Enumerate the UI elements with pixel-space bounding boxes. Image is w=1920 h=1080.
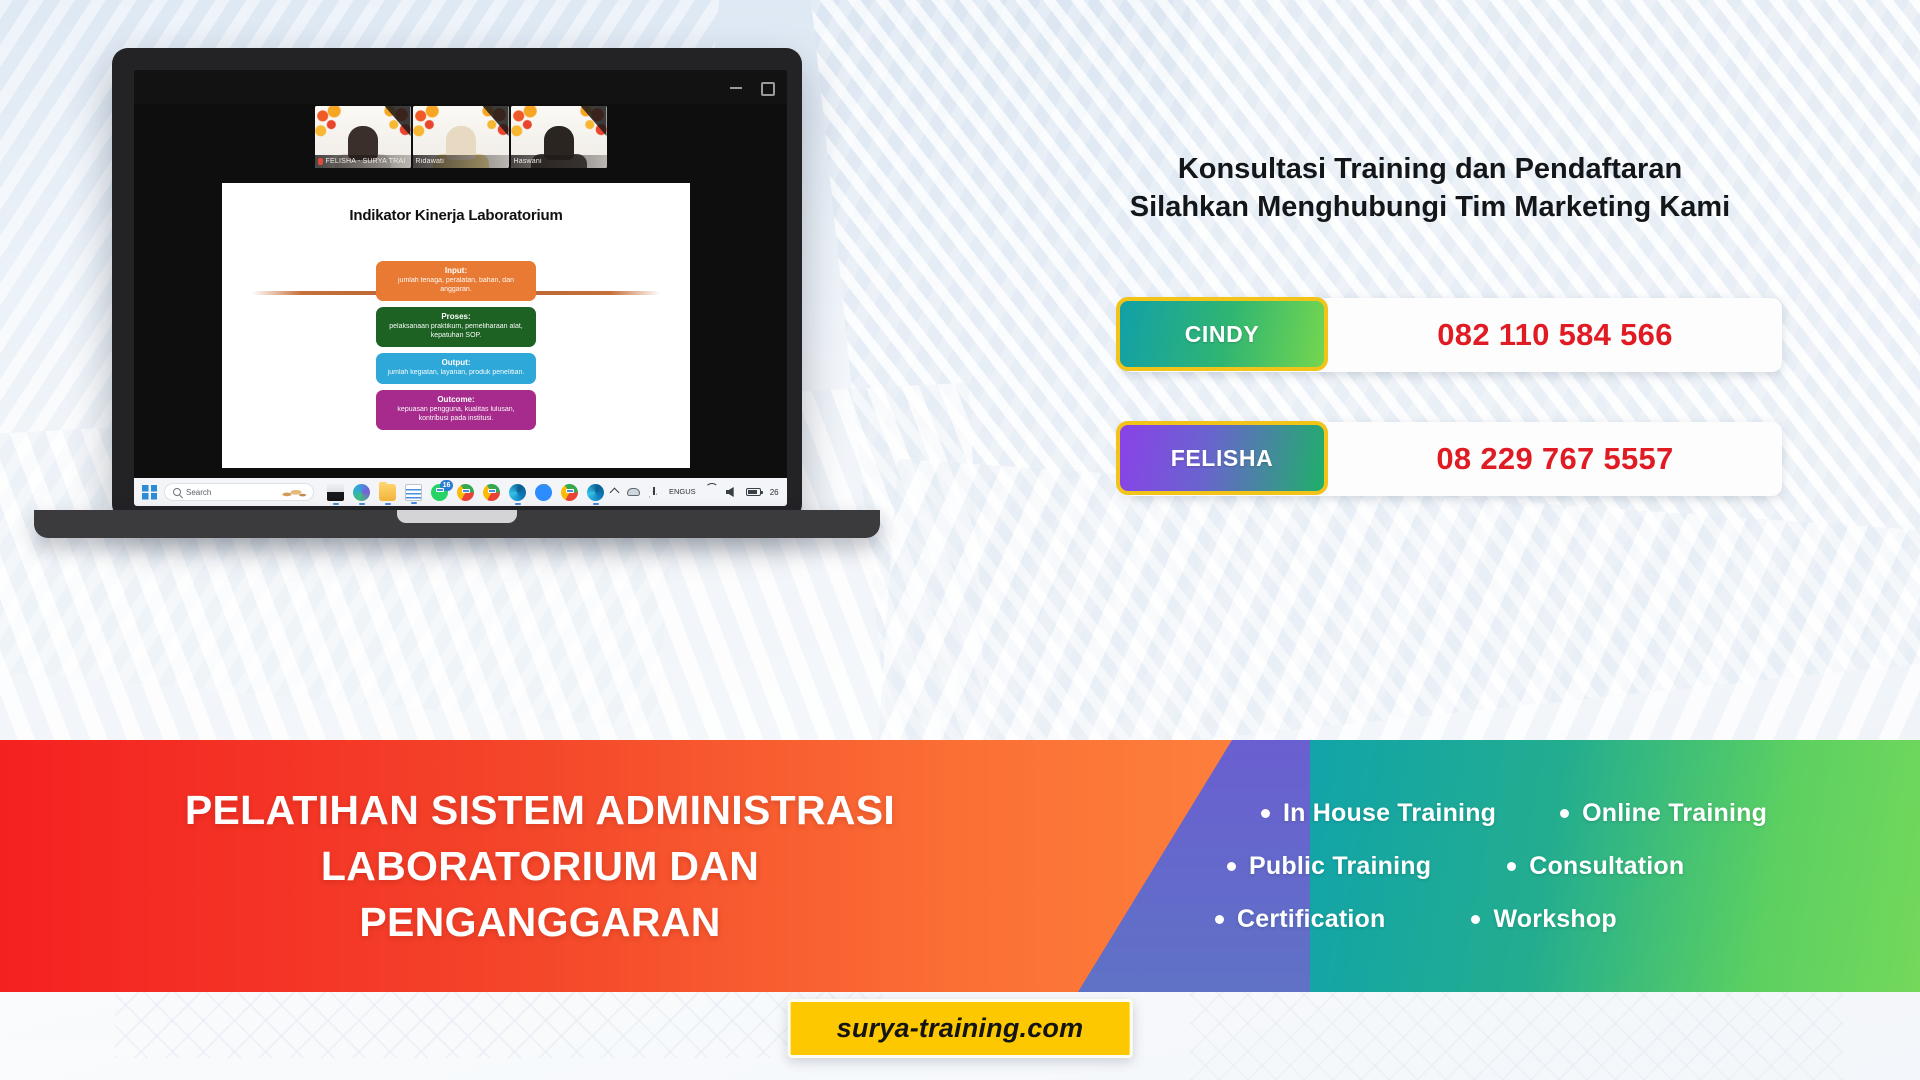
indicator-box-proses: Proses: pelaksanaan praktikum, pemelihar…: [376, 307, 536, 347]
language-region: US: [685, 488, 695, 495]
service-item: Consultation: [1507, 852, 1684, 881]
onedrive-icon[interactable]: [627, 488, 640, 496]
folder-icon[interactable]: [379, 484, 396, 501]
contact-phone[interactable]: 08 229 767 5557: [1328, 441, 1782, 477]
service-label: Workshop: [1493, 905, 1616, 934]
file-explorer-icon[interactable]: [327, 484, 344, 501]
service-item: Online Training: [1560, 799, 1767, 828]
participant-name: FELISHA - SURYA TRAI: [326, 158, 406, 165]
website-url: surya-training.com: [837, 1013, 1084, 1043]
whatsapp-icon[interactable]: 16: [431, 484, 448, 501]
copilot-icon[interactable]: [353, 484, 370, 501]
wifi-icon[interactable]: [705, 488, 717, 497]
indicator-text: jumlah tenaga, peralatan, bahan, dan ang…: [383, 277, 529, 295]
system-tray: ENG US 26: [611, 487, 783, 498]
meeting-window: FELISHA - SURYA TRAI Ridawati: [134, 70, 787, 506]
language-indicator[interactable]: ENG US: [669, 488, 696, 495]
indicator-text: kepuasan pengguna, kualitas lulusan, kon…: [383, 406, 529, 424]
battery-icon[interactable]: [746, 488, 761, 496]
contact-name: FELISHA: [1171, 445, 1274, 472]
edge-icon[interactable]: [587, 484, 604, 501]
indicator-box-list: Input: jumlah tenaga, peralatan, bahan, …: [376, 261, 536, 430]
bullet-icon: [1507, 862, 1516, 871]
volume-icon[interactable]: [726, 487, 737, 497]
chrome-icon[interactable]: [561, 484, 578, 501]
clock[interactable]: 26: [770, 488, 779, 497]
participant-strip: FELISHA - SURYA TRAI Ridawati: [315, 106, 607, 168]
shared-slide: Indikator Kinerja Laboratorium Input: ju…: [222, 183, 690, 468]
search-input[interactable]: Search: [164, 483, 314, 501]
maximize-icon[interactable]: [759, 80, 773, 94]
search-placeholder: Search: [186, 488, 211, 497]
service-label: In House Training: [1283, 799, 1496, 828]
website-badge[interactable]: surya-training.com: [788, 999, 1133, 1058]
participant-tile[interactable]: FELISHA - SURYA TRAI: [315, 106, 411, 168]
page-title-line1: PELATIHAN SISTEM ADMINISTRASI: [185, 782, 895, 838]
tray-expand-icon[interactable]: [610, 487, 620, 497]
page-title: PELATIHAN SISTEM ADMINISTRASI LABORATORI…: [0, 740, 1080, 992]
service-item: Public Training: [1227, 852, 1431, 881]
contact-heading-line1: Konsultasi Training dan Pendaftaran: [980, 150, 1880, 188]
bullet-icon: [1227, 862, 1236, 871]
participant-nameplate: Haswani: [511, 155, 607, 168]
whatsapp-badge: 16: [440, 480, 453, 491]
search-icon: [173, 488, 181, 496]
contact-heading-line2: Silahkan Menghubungi Tim Marketing Kami: [980, 188, 1880, 226]
laptop-base: [34, 510, 880, 538]
laptop-screen: FELISHA - SURYA TRAI Ridawati: [134, 70, 787, 506]
services-list: In House Training Online Training Public…: [1215, 740, 1920, 992]
indicator-label: Proses:: [383, 312, 529, 321]
service-label: Public Training: [1249, 852, 1431, 881]
indicator-box-input: Input: jumlah tenaga, peralatan, bahan, …: [376, 261, 536, 301]
bullet-icon: [1560, 809, 1569, 818]
contact-name-badge: CINDY: [1116, 297, 1328, 371]
laptop-lid: FELISHA - SURYA TRAI Ridawati: [112, 48, 802, 520]
chrome-icon[interactable]: [457, 484, 474, 501]
laptop-notch: [397, 510, 517, 523]
bottom-banner: PELATIHAN SISTEM ADMINISTRASI LABORATORI…: [0, 740, 1920, 992]
windows-taskbar: Search 16: [134, 478, 787, 506]
contact-card-cindy[interactable]: CINDY 082 110 584 566: [1122, 298, 1782, 372]
slide-title: Indikator Kinerja Laboratorium: [222, 207, 690, 224]
participant-name: Haswani: [514, 158, 542, 165]
notepad-icon[interactable]: [405, 484, 422, 501]
page-title-line3: PENGANGGARAN: [359, 894, 720, 950]
search-doodle-icon: [278, 486, 308, 500]
zoom-icon[interactable]: [535, 484, 552, 501]
indicator-text: pelaksanaan praktikum, pemeliharaan alat…: [383, 323, 529, 341]
participant-nameplate: Ridawati: [413, 155, 509, 168]
contact-phone[interactable]: 082 110 584 566: [1328, 317, 1782, 353]
bullet-icon: [1215, 915, 1224, 924]
indicator-label: Input:: [383, 266, 529, 275]
indicator-box-outcome: Outcome: kepuasan pengguna, kualitas lul…: [376, 390, 536, 430]
service-item: Certification: [1215, 905, 1385, 934]
mic-muted-icon: [318, 158, 323, 165]
contact-card-felisha[interactable]: FELISHA 08 229 767 5557: [1122, 422, 1782, 496]
pen-icon[interactable]: [649, 487, 660, 498]
participant-name: Ridawati: [416, 158, 444, 165]
indicator-text: jumlah kegiatan, layanan, produk penelit…: [383, 369, 529, 378]
language-code: ENG: [669, 488, 685, 495]
contact-card-list: CINDY 082 110 584 566 FELISHA 08 229 767…: [1122, 298, 1782, 546]
service-item: Workshop: [1471, 905, 1616, 934]
indicator-label: Outcome:: [383, 395, 529, 404]
service-label: Certification: [1237, 905, 1385, 934]
contact-heading: Konsultasi Training dan Pendaftaran Sila…: [980, 150, 1880, 227]
page-title-line2: LABORATORIUM DAN: [321, 838, 759, 894]
window-titlebar: [134, 70, 787, 104]
edge-icon[interactable]: [509, 484, 526, 501]
start-button-icon[interactable]: [142, 485, 157, 500]
laptop-mockup: FELISHA - SURYA TRAI Ridawati: [112, 48, 882, 648]
bullet-icon: [1471, 915, 1480, 924]
service-label: Consultation: [1529, 852, 1684, 881]
indicator-box-output: Output: jumlah kegiatan, layanan, produk…: [376, 353, 536, 384]
taskbar-app-icons: 16: [327, 484, 604, 501]
chrome-icon[interactable]: [483, 484, 500, 501]
service-label: Online Training: [1582, 799, 1767, 828]
participant-tile-active[interactable]: Haswani: [511, 106, 607, 168]
participant-tile[interactable]: Ridawati: [413, 106, 509, 168]
contact-name-badge: FELISHA: [1116, 421, 1328, 495]
minimize-icon[interactable]: [729, 80, 743, 94]
participant-nameplate: FELISHA - SURYA TRAI: [315, 155, 411, 168]
bullet-icon: [1261, 809, 1270, 818]
contact-name: CINDY: [1185, 321, 1260, 348]
indicator-label: Output:: [383, 358, 529, 367]
service-item: In House Training: [1261, 799, 1496, 828]
